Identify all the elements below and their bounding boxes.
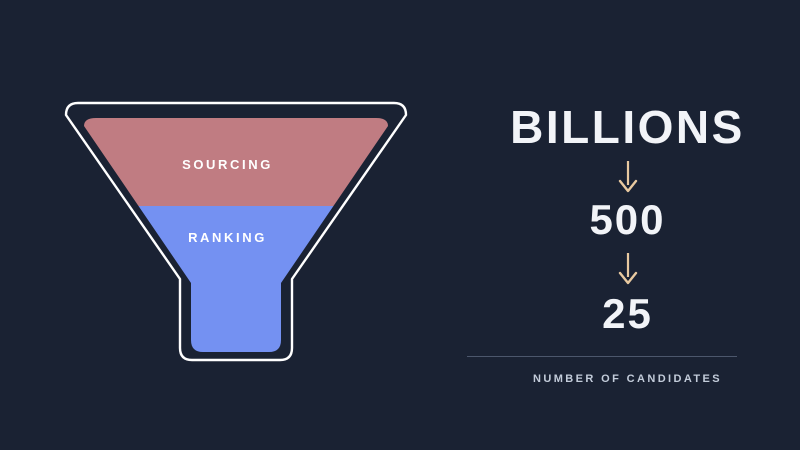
funnel-panel: SOURCING RANKING [0, 0, 455, 450]
funnel-label-sourcing: SOURCING [0, 157, 455, 172]
funnel-segment-ranking [60, 206, 410, 356]
metric-25: 25 [455, 290, 800, 338]
metrics-caption: NUMBER OF CANDIDATES [455, 373, 800, 385]
metric-500: 500 [455, 196, 800, 244]
infographic-canvas: SOURCING RANKING BILLIONS 500 25 NUMBER … [0, 0, 800, 450]
metrics-divider [467, 356, 737, 357]
funnel-graphic [0, 0, 455, 450]
metrics-panel: BILLIONS 500 25 NUMBER OF CANDIDATES [455, 0, 800, 450]
funnel-label-ranking: RANKING [0, 230, 455, 245]
down-arrow-icon-1 [455, 160, 800, 194]
metric-billions: BILLIONS [455, 100, 800, 154]
down-arrow-icon-2 [455, 252, 800, 286]
